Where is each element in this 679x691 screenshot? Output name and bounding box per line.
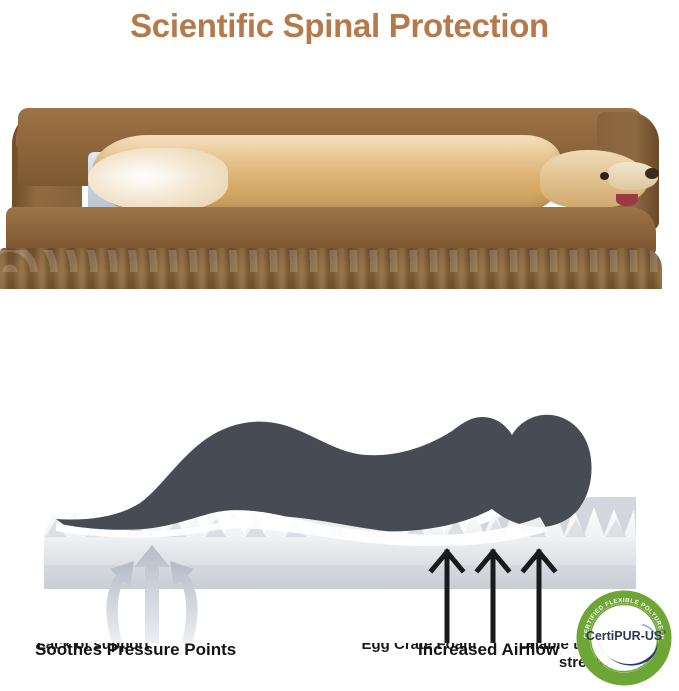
certipur-trademark-icon: ®: [662, 629, 666, 636]
label-soothes-pressure-points: Soothes Pressure Points: [35, 640, 236, 660]
hardness-scale: Too soft 1 Lack of support Moderate hard…: [0, 289, 679, 397]
page-title-bar: Scientific Spinal Protection: [0, 0, 679, 52]
bed-base: [0, 248, 662, 289]
label-increased-airflow: Increased Airflow: [418, 640, 559, 660]
page-title: Scientific Spinal Protection: [130, 7, 549, 45]
hero-product-photo: [0, 52, 679, 289]
dog-nose: [645, 168, 659, 179]
certipur-wordmark: CertiPUR-US: [586, 629, 662, 643]
airflow-arrow-1: [432, 552, 462, 643]
dog-silhouette: [56, 415, 592, 532]
dog-tongue: [616, 194, 638, 206]
airflow-arrow-2: [478, 552, 508, 643]
dog-eye: [600, 172, 609, 180]
airflow-arrow-3: [524, 552, 554, 643]
bed-base-wave-stitch: [0, 250, 662, 272]
dog-fur-ruff: [88, 148, 228, 212]
certipur-us-logo: CONTAINS CERTIFIED FLEXIBLE POLYURETHANE…: [576, 590, 672, 686]
